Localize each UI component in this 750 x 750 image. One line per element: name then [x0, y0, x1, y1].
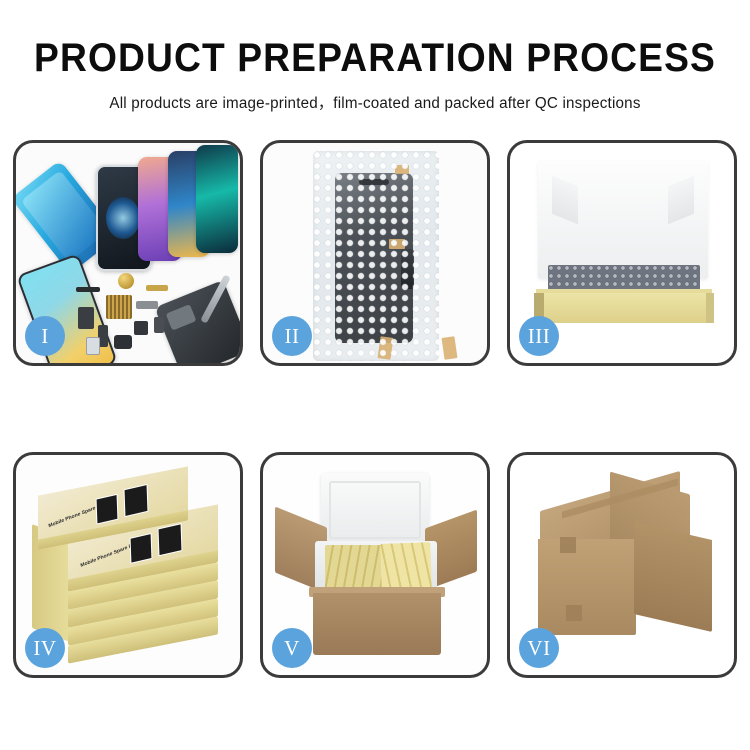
- yellow-box-front: [536, 293, 712, 323]
- lid-flap-left: [552, 176, 578, 225]
- camera-module-icon: [78, 307, 94, 329]
- speaker-part-icon: [118, 273, 134, 289]
- process-step-grid: I II: [13, 140, 737, 678]
- page-header: PRODUCT PREPARATION PROCESS All products…: [0, 0, 750, 113]
- lid-flap-right: [668, 176, 694, 225]
- vibrator-motor-icon: [134, 321, 148, 335]
- bubble-wrap-bag: [313, 151, 439, 361]
- process-step-6[interactable]: VI: [507, 452, 737, 678]
- process-step-2[interactable]: II: [260, 140, 490, 366]
- page-subtitle: All products are image-printed，film-coat…: [8, 91, 743, 113]
- process-step-3[interactable]: III: [507, 140, 737, 366]
- page-title: PRODUCT PREPARATION PROCESS: [26, 38, 724, 78]
- foam-box-lid: [321, 473, 429, 547]
- step-badge-3: III: [519, 316, 559, 356]
- infographic-page: PRODUCT PREPARATION PROCESS All products…: [0, 0, 750, 750]
- small-part-icon: [154, 317, 164, 333]
- bubble-texture: [313, 151, 439, 361]
- carton-front: [313, 593, 441, 655]
- carton-tape-upper: [560, 537, 576, 553]
- flex-cable-icon: [76, 287, 100, 292]
- spare-parts-cluster: [74, 271, 192, 363]
- chip-board-icon: [106, 295, 132, 319]
- white-box-lid: [538, 161, 708, 279]
- carton-side-face: [634, 522, 712, 632]
- box-window-right: [124, 484, 149, 517]
- process-step-5[interactable]: V: [260, 452, 490, 678]
- step-badge-4: IV: [25, 628, 65, 668]
- box-window-left: [96, 494, 119, 525]
- ribbon-cable-icon: [136, 301, 158, 309]
- box-window-left: [130, 533, 153, 564]
- process-step-4[interactable]: Mobile Phone Spare Parts Mobile Phone Sp…: [13, 452, 243, 678]
- carton-tape-lower: [566, 605, 582, 621]
- tape-strip-icon: [442, 336, 458, 360]
- step-badge-5: V: [272, 628, 312, 668]
- speaker-mesh-icon: [114, 335, 132, 349]
- box-right-edge: [706, 293, 714, 323]
- sim-tray-icon: [86, 337, 100, 355]
- gold-connector-icon: [146, 285, 168, 291]
- step-badge-6: VI: [519, 628, 559, 668]
- step-badge-1: I: [25, 316, 65, 356]
- packed-yellow-boxes-stack: [380, 542, 432, 590]
- step-badge-2: II: [272, 316, 312, 356]
- process-step-1[interactable]: I: [13, 140, 243, 366]
- carton-front-face: [538, 539, 636, 635]
- teal-phone-icon: [196, 145, 238, 253]
- box-window-right: [158, 523, 183, 556]
